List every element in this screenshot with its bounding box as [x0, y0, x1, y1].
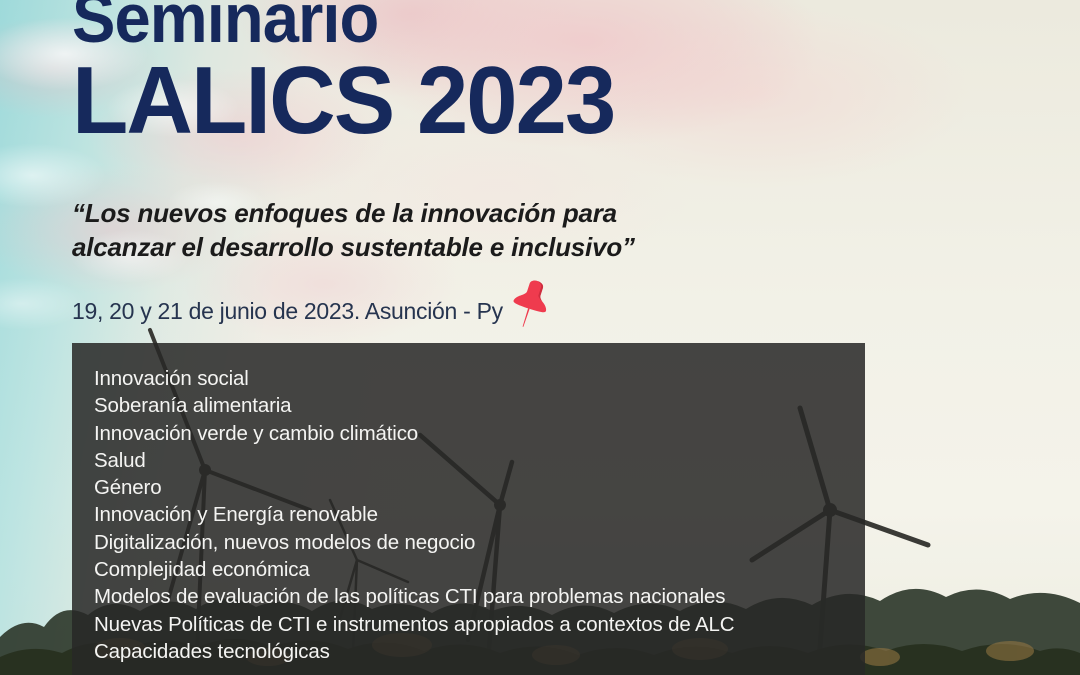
title-seminario: Seminario — [72, 0, 597, 53]
topic-item: Innovación y Energía renovable — [94, 501, 865, 528]
topic-item: Complejidad económica — [94, 556, 865, 583]
topics-panel: Innovación social Soberanía alimentaria … — [72, 343, 865, 675]
subtitle-quote: “Los nuevos enfoques de la innovación pa… — [72, 196, 682, 265]
seminar-poster: Seminario LALICS 2023 “Los nuevos enfoqu… — [0, 0, 1080, 675]
title-lalics-2023: LALICS 2023 — [72, 57, 614, 145]
topic-item: Digitalización, nuevos modelos de negoci… — [94, 529, 865, 556]
topic-item: Modelos de evaluación de las políticas C… — [94, 583, 865, 610]
topic-item: Salud — [94, 447, 865, 474]
topic-item: Género — [94, 474, 865, 501]
dateline-block: 19, 20 y 21 de junio de 2023. Asunción -… — [72, 298, 555, 332]
topic-item: Innovación verde y cambio climático — [94, 420, 865, 447]
headline-block: Seminario LALICS 2023 — [72, 0, 637, 145]
topic-item: Nuevas Políticas de CTI e instrumentos a… — [94, 611, 865, 638]
date-location-text: 19, 20 y 21 de junio de 2023. Asunción -… — [72, 298, 503, 325]
topic-item: Capacidades tecnológicas — [94, 638, 865, 665]
topic-item: Soberanía alimentaria — [94, 392, 865, 419]
pushpin-icon — [507, 276, 555, 332]
topic-item: Innovación social — [94, 365, 865, 392]
